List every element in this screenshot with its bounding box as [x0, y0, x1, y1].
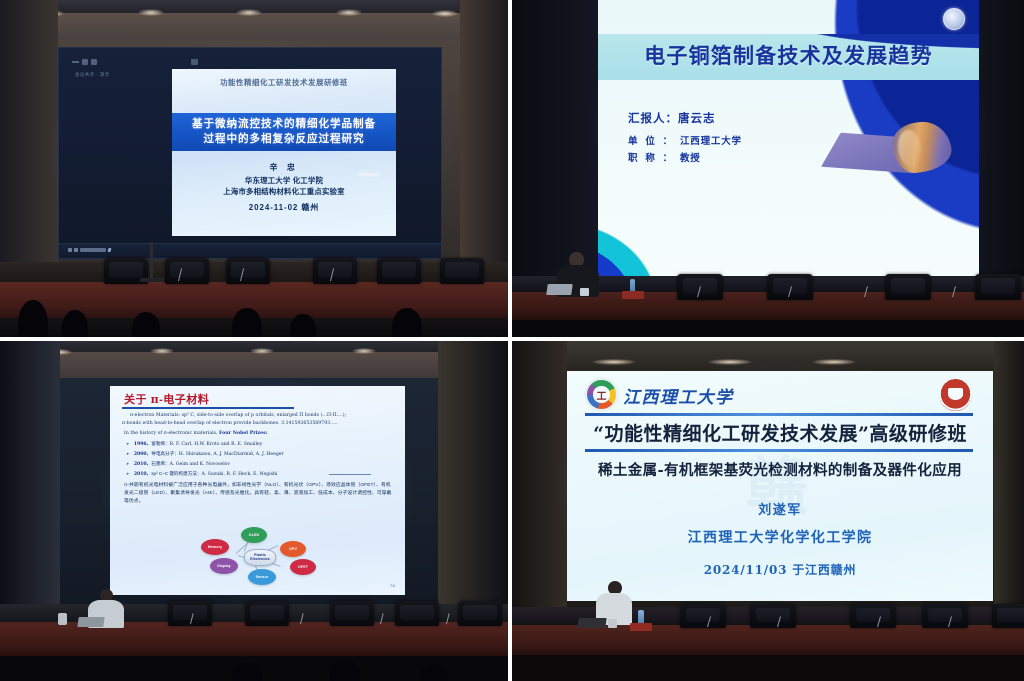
- slide-tl-speaker: 辛 忠: [172, 162, 396, 173]
- slide-br-title-sub: 稀土金属-有机框架基荧光检测材料的制备及器件化应用: [567, 459, 993, 480]
- nobel-year: 1996、: [134, 442, 151, 447]
- downlight: [708, 359, 752, 365]
- minimize-icon[interactable]: [72, 61, 79, 63]
- downlight: [336, 9, 362, 16]
- screen-icon[interactable]: [74, 248, 78, 252]
- audience-silhouette: [232, 663, 262, 681]
- university-emblem-icon: [943, 8, 965, 30]
- slide-tr-corner-arc: [598, 166, 728, 276]
- slide-page-number: 76: [390, 583, 395, 588]
- downlight: [250, 348, 274, 354]
- stop-share-label[interactable]: [80, 248, 106, 252]
- diagram-node-ofet: OFET: [290, 559, 316, 575]
- screen-reflection: [358, 173, 380, 176]
- slide-tr: 电子铜箔制备技术及发展趋势 汇报人：唐云志 单 位 ： 江西理工大学 职 称 ：…: [598, 0, 979, 276]
- downlight: [352, 348, 376, 354]
- nobel-people: R. F. Carl, H.W. Kroto and R. E. Smalley: [170, 442, 263, 447]
- nobel-year: 2010、: [134, 472, 151, 477]
- divider: [329, 474, 371, 475]
- slide-tr-unit-row: 单 位 ： 江西理工大学: [628, 134, 742, 151]
- nobel-cn: 石墨烯：: [151, 461, 169, 466]
- jxust-logo-left-icon: 工: [586, 379, 617, 410]
- nobel-year: 2000、: [134, 452, 151, 457]
- dais-front: [512, 625, 1024, 655]
- copper-foil-graphic: [829, 122, 951, 178]
- photo-collage: 会议共享 · 演示 功能性精细化工研发技术发展研修班 基于微纳流控技术的精细化学…: [0, 0, 1024, 681]
- audience-silhouette: [132, 312, 160, 337]
- projection-screen: 关于 π-电子材料 π-electron Materials: sp² C, s…: [110, 386, 405, 595]
- downlight: [432, 10, 458, 17]
- chair: [975, 274, 1021, 300]
- downlight: [138, 9, 164, 16]
- slide-tr-reporter-row: 汇报人：唐云志: [628, 110, 742, 126]
- chair: [458, 601, 502, 626]
- chair: [850, 604, 896, 628]
- audience-silhouette: [420, 665, 448, 681]
- cup: [608, 619, 617, 628]
- slide-tl-title-band: 基于微纳流控技术的精细化学品制备 过程中的多相复杂反应过程研究: [172, 113, 396, 151]
- audience-silhouette: [232, 308, 262, 337]
- ceiling-soffit: [0, 13, 508, 40]
- more-options-icon[interactable]: [191, 59, 198, 65]
- heading-suffix: -电子材料: [159, 394, 209, 406]
- foreground-dark: [512, 320, 1024, 337]
- audience-silhouette: [330, 661, 360, 681]
- name-plate: [630, 623, 652, 631]
- diagram-node-sensor: Sensor: [248, 569, 276, 585]
- nobel-item: 1996、富勒烯：R. F. Carl, H.W. Kroto and R. E…: [126, 441, 394, 448]
- reporter-label: 汇报人：: [628, 113, 678, 125]
- chair: [165, 258, 209, 284]
- chair: [330, 601, 374, 626]
- slide-bl-para3: In the history of π-electronic materials…: [124, 430, 392, 437]
- slide-tl-date: 2024-11-02 赣州: [172, 202, 396, 213]
- chair: [245, 601, 289, 626]
- panel-bottom-right: 赣 工 江西理工大学 “功能性精细化工研发技术发展”高级研修班 稀土金属-有机框…: [512, 341, 1024, 681]
- nobel-cn: 富勒烯：: [151, 441, 169, 446]
- nobel-people: A. Geim and K. Novoselov: [170, 462, 230, 467]
- slide-tr-title-row: 职 称 ： 教授: [628, 151, 742, 168]
- audience-silhouette: [290, 314, 316, 337]
- slide-tl: 功能性精细化工研发技术发展研修班 基于微纳流控技术的精细化学品制备 过程中的多相…: [172, 69, 396, 236]
- diagram-node-oled: OLED: [241, 527, 267, 543]
- cup: [580, 288, 589, 296]
- unit-label: 单 位 ：: [628, 134, 680, 151]
- diagram-node-center: Plastic Electronics: [244, 549, 276, 566]
- chair: [377, 258, 421, 284]
- chair: [885, 274, 931, 300]
- ceiling-band: [512, 341, 1024, 367]
- nobel-year: 2010、: [134, 462, 151, 467]
- slide-br: 赣 工 江西理工大学 “功能性精细化工研发技术发展”高级研修班 稀土金属-有机框…: [567, 371, 993, 601]
- heading-rule: [122, 407, 294, 409]
- chair: [313, 258, 357, 284]
- annotate-pen-icon[interactable]: [108, 248, 112, 252]
- maximize-icon[interactable]: [82, 59, 88, 65]
- projection-screen: 赣 工 江西理工大学 “功能性精细化工研发技术发展”高级研修班 稀土金属-有机框…: [567, 371, 993, 601]
- slide-tl-affiliation2: 上海市多相结构材料化工重点实验室: [172, 187, 396, 198]
- pi-symbol: π: [151, 393, 160, 406]
- slide-bl-para1: π-electron Materials: sp² C, side-to-sid…: [130, 412, 392, 419]
- audience-silhouette: [392, 308, 422, 337]
- downlight: [150, 348, 174, 354]
- para3-lead: In the history of π-electronic materials…: [124, 431, 219, 436]
- nobel-people: H. Shirakawa, A. J. MacDiarmid, A. J. He…: [179, 452, 284, 457]
- dais-front: [0, 622, 508, 656]
- window-controls[interactable]: [72, 59, 97, 65]
- laptop: [546, 284, 573, 295]
- center-line2: Electronics: [250, 558, 269, 562]
- heading-prefix: 关于: [124, 394, 151, 406]
- slide-bl-body-paragraph: π-共轭有机光电材料被广泛应用于各种光电器件，如非线性光学（NLO）、有机光伏（…: [124, 482, 394, 505]
- toolbar-items[interactable]: [68, 248, 111, 252]
- nobel-item: 2010、石墨烯：A. Geim and K. Novoselov: [126, 461, 394, 468]
- chair: [922, 604, 968, 628]
- diagram-node-memory: Memory: [201, 539, 229, 555]
- downlight: [236, 9, 262, 16]
- slide-br-speaker: 刘遂军: [567, 499, 993, 518]
- meeting-tab-label[interactable]: 会议共享 · 演示: [75, 72, 110, 78]
- rule-top: [585, 413, 973, 416]
- nobel-cn: 导电高分子：: [151, 451, 179, 456]
- downlight: [812, 359, 856, 365]
- job-title-value: 教授: [680, 151, 701, 168]
- panel-top-left: 会议共享 · 演示 功能性精细化工研发技术发展研修班 基于微纳流控技术的精细化学…: [0, 0, 508, 337]
- projection-screen: 电子铜箔制备技术及发展趋势 汇报人：唐云志 单 位 ： 江西理工大学 职 称 ：…: [598, 0, 979, 276]
- slide-br-date: 2024/11/03 于江西赣州: [567, 561, 993, 578]
- slide-tl-title-line1: 基于微纳流控技术的精细化学品制备: [192, 118, 376, 132]
- chair: [992, 604, 1024, 628]
- chair: [440, 258, 484, 284]
- projection-screen: 会议共享 · 演示 功能性精细化工研发技术发展研修班 基于微纳流控技术的精细化学…: [58, 47, 442, 259]
- downlight: [592, 359, 636, 365]
- audience-silhouette: [62, 310, 88, 337]
- tripod-stem: [150, 242, 153, 282]
- tripod-legs: [139, 278, 164, 282]
- nobel-cn: sp² C–C 键的构建方法：: [151, 471, 201, 476]
- jxust-logo-right-icon: [938, 377, 973, 412]
- panel-bottom-left: 关于 π-电子材料 π-electron Materials: sp² C, s…: [0, 341, 508, 681]
- plastic-electronics-diagram: Plastic Electronics OLED OPV OFET Sensor…: [194, 525, 322, 587]
- menu-icon[interactable]: [91, 59, 97, 65]
- para3-bold: Four Nobel Prizes:: [219, 431, 268, 436]
- share-icon[interactable]: [68, 248, 72, 252]
- diagram-node-display: Display: [210, 558, 238, 574]
- slide-br-affiliation: 江西理工大学化学化工学院: [567, 527, 993, 547]
- slide-tr-meta: 汇报人：唐云志 单 位 ： 江西理工大学 职 称 ： 教授: [628, 110, 742, 167]
- nobel-item: 2000、导电高分子：H. Shirakawa, A. J. MacDiarmi…: [126, 451, 394, 458]
- slide-br-university: 江西理工大学: [623, 383, 733, 408]
- slide-tl-title-line2: 过程中的多相复杂反应过程研究: [204, 133, 365, 147]
- panel-top-right: 电子铜箔制备技术及发展趋势 汇报人：唐云志 单 位 ： 江西理工大学 职 称 ：…: [512, 0, 1024, 337]
- job-title-label: 职 称 ：: [628, 151, 680, 168]
- slide-tl-affiliation1: 华东理工大学 化工学院: [172, 176, 396, 187]
- slide-bl-heading: 关于 π-电子材料: [124, 391, 209, 407]
- foreground-dark: [512, 655, 1024, 681]
- rule-bottom: [585, 449, 973, 452]
- laptop: [77, 617, 104, 627]
- slide-bl-para2: π-bonds with head-to-head overlap of ele…: [122, 420, 394, 427]
- nobel-people: A. Suzuki, R. F. Heck, E. Negishi: [202, 472, 278, 477]
- slide-tl-speaker-block: 辛 忠 华东理工大学 化工学院 上海市多相结构材料化工重点实验室: [172, 162, 396, 197]
- cup: [58, 613, 67, 625]
- slide-br-title-main: “功能性精细化工研发技术发展”高级研修班: [567, 419, 993, 446]
- client-toolbar[interactable]: [59, 243, 441, 258]
- name-plate: [622, 291, 644, 299]
- laptop: [577, 618, 606, 628]
- chair: [395, 601, 439, 626]
- ceiling-soffit: [0, 352, 508, 378]
- slide-bl: 关于 π-电子材料 π-electron Materials: sp² C, s…: [110, 386, 405, 595]
- slide-tl-header: 功能性精细化工研发技术发展研修班: [172, 77, 396, 88]
- reporter-name: 唐云志: [678, 113, 716, 125]
- unit-value: 江西理工大学: [680, 134, 742, 151]
- chair: [750, 604, 796, 628]
- chair: [680, 604, 726, 628]
- diagram-node-opv: OPV: [280, 541, 306, 557]
- chair: [226, 258, 270, 284]
- slide-tr-title: 电子铜箔制备技术及发展趋势: [598, 40, 979, 70]
